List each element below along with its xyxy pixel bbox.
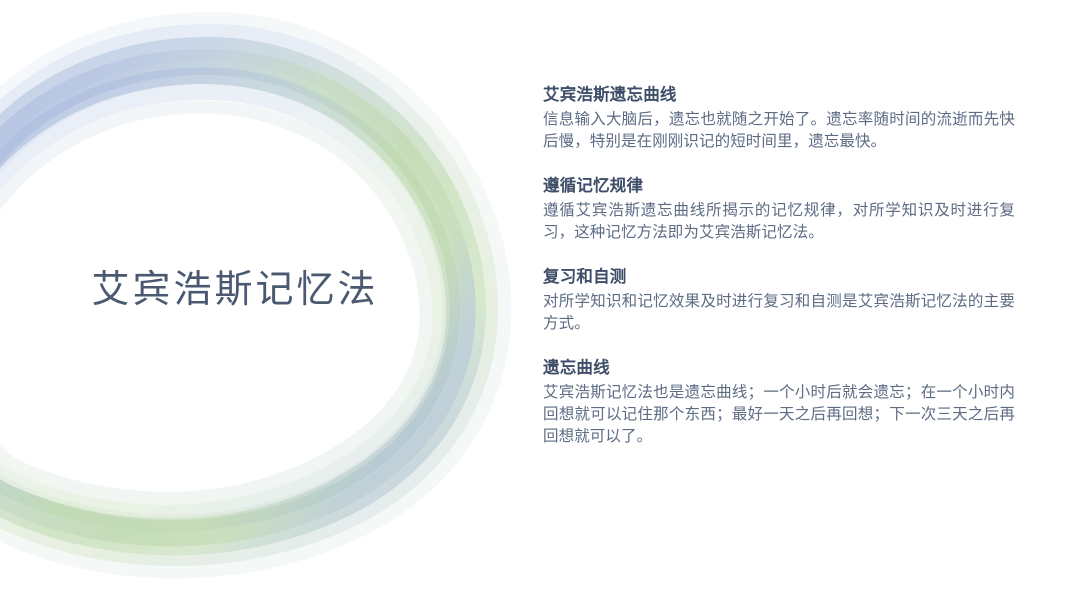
section-body-4: 艾宾浩斯记忆法也是遗忘曲线；一个小时后就会遗忘；在一个小时内回想就可以记住那个东… bbox=[543, 382, 1015, 448]
slide-canvas: 艾宾浩斯记忆法 艾宾浩斯遗忘曲线 信息输入大脑后，遗忘也就随之开始了。遗忘率随时… bbox=[0, 0, 1080, 608]
section-heading-1: 艾宾浩斯遗忘曲线 bbox=[543, 84, 1015, 108]
section-heading-2: 遵循记忆规律 bbox=[543, 175, 1015, 199]
content-section-2: 遵循记忆规律 遵循艾宾浩斯遗忘曲线所揭示的记忆规律，对所学知识及时进行复习，这种… bbox=[543, 175, 1015, 244]
section-body-2: 遵循艾宾浩斯遗忘曲线所揭示的记忆规律，对所学知识及时进行复习，这种记忆方法即为艾… bbox=[543, 200, 1015, 244]
content-section-4: 遗忘曲线 艾宾浩斯记忆法也是遗忘曲线；一个小时后就会遗忘；在一个小时内回想就可以… bbox=[543, 357, 1015, 448]
section-heading-4: 遗忘曲线 bbox=[543, 357, 1015, 381]
section-heading-3: 复习和自测 bbox=[543, 266, 1015, 290]
section-body-1: 信息输入大脑后，遗忘也就随之开始了。遗忘率随时间的流逝而先快后慢，特别是在刚刚识… bbox=[543, 109, 1015, 153]
page-title: 艾宾浩斯记忆法 bbox=[0, 265, 470, 316]
section-body-3: 对所学知识和记忆效果及时进行复习和自测是艾宾浩斯记忆法的主要方式。 bbox=[543, 291, 1015, 335]
content-column: 艾宾浩斯遗忘曲线 信息输入大脑后，遗忘也就随之开始了。遗忘率随时间的流逝而先快后… bbox=[543, 84, 1015, 448]
title-block: 艾宾浩斯记忆法 bbox=[0, 265, 470, 316]
content-section-1: 艾宾浩斯遗忘曲线 信息输入大脑后，遗忘也就随之开始了。遗忘率随时间的流逝而先快后… bbox=[543, 84, 1015, 153]
content-section-3: 复习和自测 对所学知识和记忆效果及时进行复习和自测是艾宾浩斯记忆法的主要方式。 bbox=[543, 266, 1015, 335]
